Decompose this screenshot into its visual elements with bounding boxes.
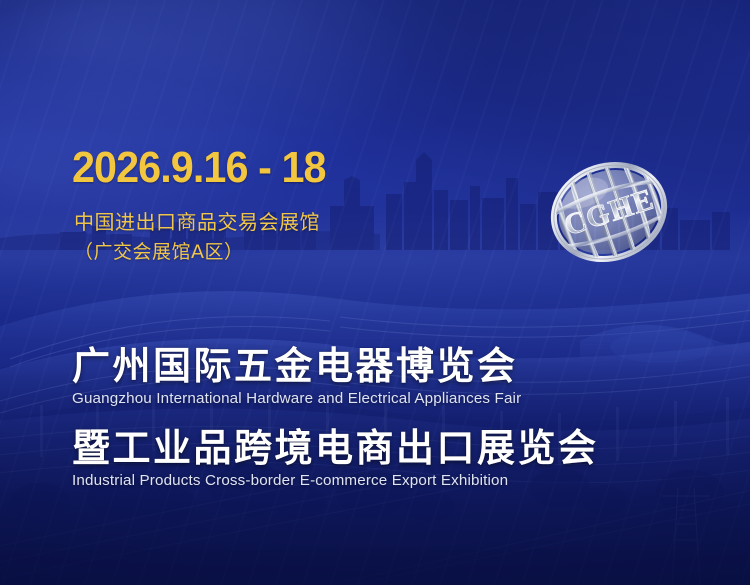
poster-content: 2026.9.16 - 18 中国进出口商品交易会展馆 （广交会展馆A区） 广州… xyxy=(0,0,750,585)
event-date: 2026.9.16 - 18 xyxy=(72,146,326,190)
venue-name: 中国进出口商品交易会展馆 xyxy=(74,210,320,235)
secondary-title-cn: 暨工业品跨境电商出口展览会 xyxy=(72,428,599,469)
secondary-title-en: Industrial Products Cross-border E-comme… xyxy=(72,472,599,490)
venue-area: （广交会展馆A区） xyxy=(74,241,244,265)
primary-title-block: 广州国际五金电器博览会 Guangzhou International Hard… xyxy=(72,346,521,408)
primary-title-en: Guangzhou International Hardware and Ele… xyxy=(72,390,521,408)
exhibition-poster: CGHE 2026.9.16 - 18 中国进出口商品交易会展馆 （广交会展馆A… xyxy=(0,0,750,585)
secondary-title-block: 暨工业品跨境电商出口展览会 Industrial Products Cross-… xyxy=(72,428,599,490)
primary-title-cn: 广州国际五金电器博览会 xyxy=(72,346,521,387)
